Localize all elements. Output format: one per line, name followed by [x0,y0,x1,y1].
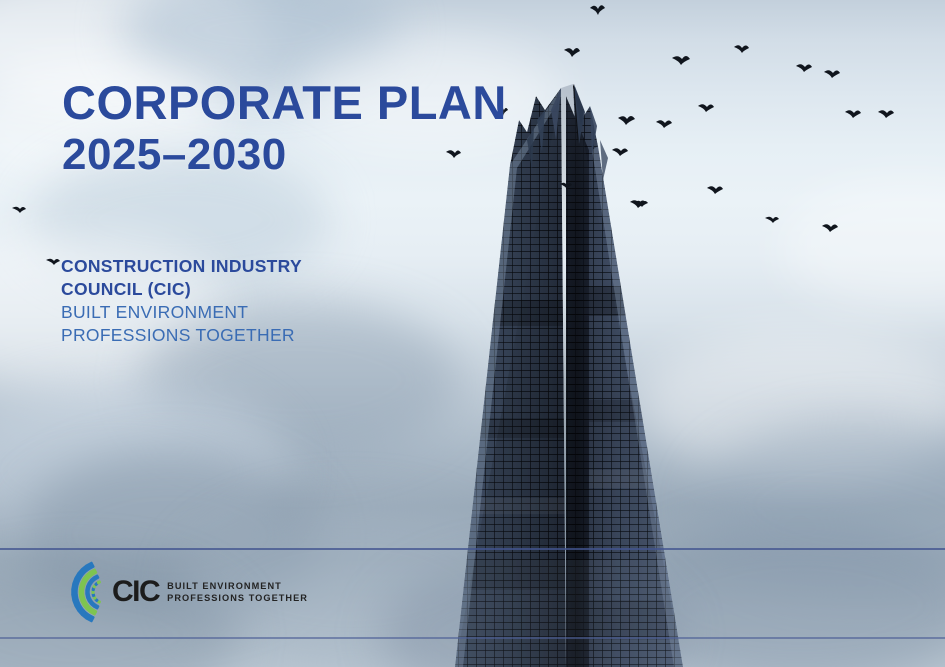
organisation-block: CONSTRUCTION INDUSTRY COUNCIL (CIC) BUIL… [61,255,302,347]
cic-logo-tagline-line2: PROFESSIONS TOGETHER [167,592,308,604]
page-title: CORPORATE PLAN [62,78,507,128]
organisation-name-line1: CONSTRUCTION INDUSTRY [61,255,302,278]
corporate-plan-cover: CORPORATE PLAN 2025–2030 CONSTRUCTION IN… [0,0,945,667]
page-title-years: 2025–2030 [62,130,507,179]
organisation-tagline-line1: BUILT ENVIRONMENT [61,301,302,324]
cic-logo: CIC BUILT ENVIRONMENT PROFESSIONS TOGETH… [64,556,279,628]
cic-wordmark: CIC [112,577,159,607]
organisation-name-line2: COUNCIL (CIC) [61,278,302,301]
cover-title-block: CORPORATE PLAN 2025–2030 [62,78,507,179]
cic-logo-tagline: BUILT ENVIRONMENT PROFESSIONS TOGETHER [167,580,308,605]
cic-arc-mark-icon [64,557,114,627]
organisation-tagline-line2: PROFESSIONS TOGETHER [61,324,302,347]
divider-line-bottom [0,637,945,639]
cic-logo-tagline-line1: BUILT ENVIRONMENT [167,580,308,592]
divider-line-top [0,548,945,550]
